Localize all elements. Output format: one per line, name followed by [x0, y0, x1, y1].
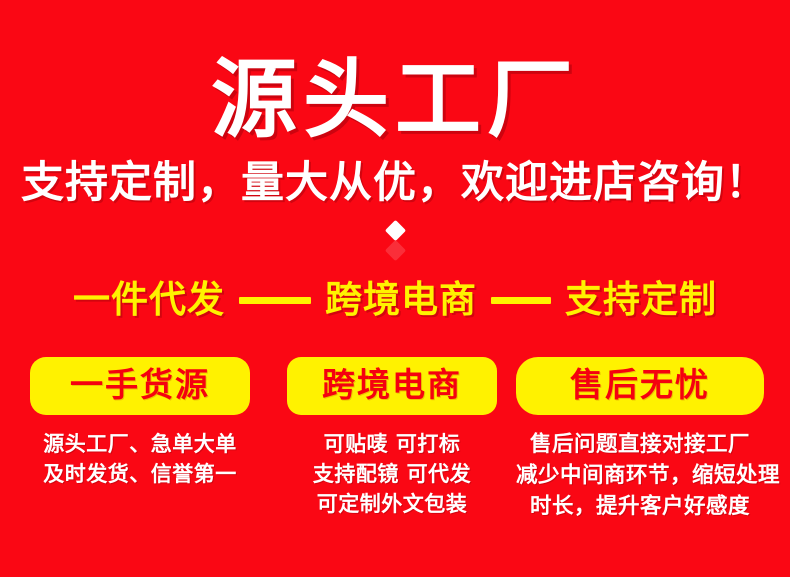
feature-column-2: 跨境电商 可贴唛 可打标 支持配镜 可代发 可定制外文包装 [287, 357, 497, 519]
feature-column-3-description: 售后问题直接对接工厂 减少中间商环节，缩短处理 时长，提升客户好感度 [516, 429, 764, 522]
badge-one-hand-supply: 一手货源 [30, 357, 250, 415]
desc-line: 支持配镜 可代发 [287, 459, 497, 489]
diamond-reflection-icon [385, 240, 406, 261]
feature-column-2-description: 可贴唛 可打标 支持配镜 可代发 可定制外文包装 [287, 429, 497, 519]
subheadline: 支持定制，量大从优，欢迎进店咨询！ [0, 157, 790, 209]
feature-column-1-description: 源头工厂、急单大单 及时发货、信誉第一 [30, 429, 250, 489]
feature-item-1: 一件代发 [73, 277, 225, 323]
feature-strip: 一件代发 跨境电商 支持定制 [0, 277, 790, 323]
desc-line: 可定制外文包装 [287, 489, 497, 519]
feature-columns: 一手货源 源头工厂、急单大单 及时发货、信誉第一 跨境电商 可贴唛 可打标 支持… [0, 357, 790, 547]
promo-banner: 源头工厂 支持定制，量大从优，欢迎进店咨询！ 一件代发 跨境电商 支持定制 一手… [0, 0, 790, 577]
desc-line: 源头工厂、急单大单 [30, 429, 250, 459]
desc-line: 减少中间商环节，缩短处理 [516, 460, 764, 491]
badge-after-sales-worry-free: 售后无忧 [516, 357, 764, 415]
feature-column-1: 一手货源 源头工厂、急单大单 及时发货、信誉第一 [30, 357, 250, 489]
diamond-icon [385, 220, 406, 241]
feature-column-3: 售后无忧 售后问题直接对接工厂 减少中间商环节，缩短处理 时长，提升客户好感度 [516, 357, 764, 522]
desc-line: 可贴唛 可打标 [287, 429, 497, 459]
feature-separator-2-icon [491, 297, 551, 304]
divider [0, 219, 790, 263]
feature-separator-1-icon [239, 297, 311, 304]
headline: 源头工厂 [0, 52, 790, 148]
feature-item-2: 跨境电商 [325, 277, 477, 323]
desc-line: 售后问题直接对接工厂 [516, 429, 764, 460]
desc-line: 及时发货、信誉第一 [30, 459, 250, 489]
badge-cross-border-ecommerce: 跨境电商 [287, 357, 497, 415]
desc-line: 时长，提升客户好感度 [516, 491, 764, 522]
feature-item-3: 支持定制 [565, 277, 717, 323]
